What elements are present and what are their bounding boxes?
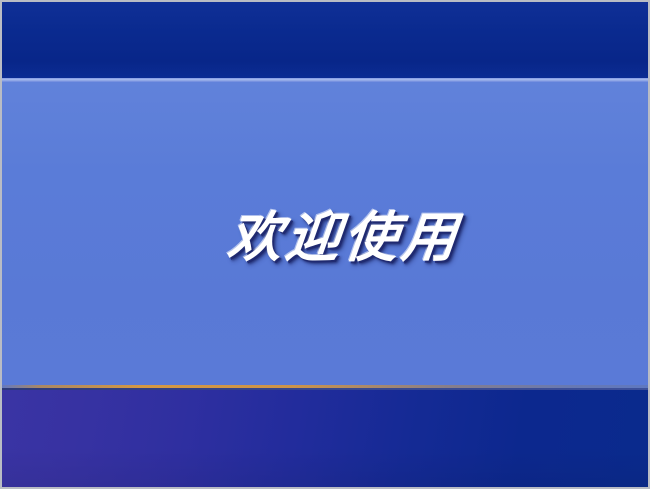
bottom-navy-band [2,390,648,487]
presentation-slide: 欢迎使用 [0,0,650,489]
top-navy-band [2,2,648,78]
slide-title-block: 欢迎使用 [2,198,648,278]
slide-title: 欢迎使用 [225,210,463,267]
